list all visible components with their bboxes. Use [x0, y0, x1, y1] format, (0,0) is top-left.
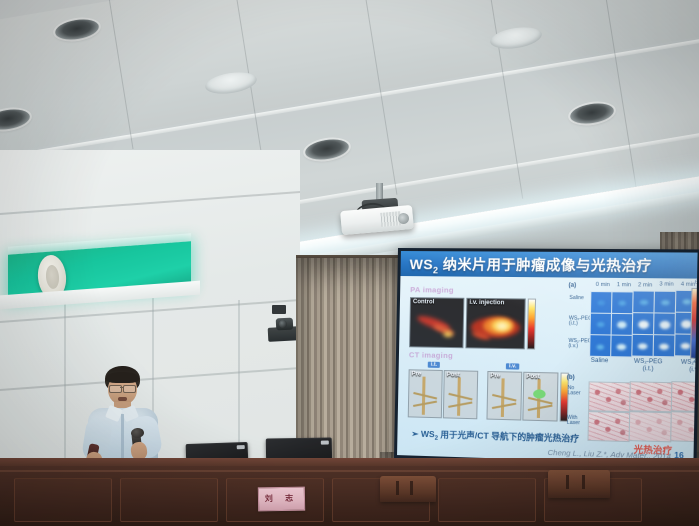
- thermal-cell: [590, 291, 613, 314]
- histology-row-label-no-laser: No Laser: [567, 386, 580, 397]
- histology-cell: [670, 411, 697, 442]
- desk-panel: [120, 478, 218, 522]
- histology-cell: [671, 381, 698, 412]
- ct-image-post-iv: Post: [522, 372, 558, 422]
- wall-junction-box: [272, 305, 286, 314]
- bullet-marker: ➢: [411, 428, 418, 438]
- thermal-colorbar-max: 60°C: [695, 280, 698, 286]
- histology-cell: [588, 381, 631, 412]
- slide-title-rest: 纳米片用于肿瘤成像与光热治疗: [438, 256, 652, 274]
- thermal-col-label: 1 min: [617, 282, 631, 288]
- row-line-2: Laser: [567, 390, 580, 396]
- laptop-logo: [237, 445, 245, 449]
- thermal-row-route: (i.v.): [568, 343, 578, 349]
- group-name: WS₂-PEG: [634, 359, 663, 366]
- thermal-col-label: 0 min: [596, 282, 610, 288]
- presenter-fringe: [106, 372, 139, 383]
- projection-screen: WS2 纳米片用于肿瘤成像与光热治疗 PA imaging Control i.…: [394, 248, 699, 468]
- group-route: (i.v.): [689, 367, 697, 373]
- thermal-cell: [653, 291, 676, 314]
- name-plate: 刘 志: [258, 487, 305, 512]
- slide-title-main: WS: [410, 256, 434, 272]
- thermal-cell: [610, 334, 633, 357]
- thermal-cell: [631, 334, 654, 357]
- ct-group-tag-iv: i.v.: [506, 363, 520, 369]
- thermal-colorbar: [690, 288, 698, 359]
- name-plate-text: 刘 志: [259, 493, 304, 505]
- ct-image-caption: Post: [447, 372, 460, 378]
- row-line-2: Laser: [567, 420, 580, 427]
- thermal-cell: [611, 291, 634, 314]
- thermal-group-label: WS₂-PEG (i.v.): [674, 359, 698, 374]
- lecture-hall-photo: WS2 纳米片用于肿瘤成像与光热治疗 PA imaging Control i.…: [0, 0, 699, 526]
- thermal-group-label: Saline: [581, 358, 619, 366]
- panel-tag-b: (b): [567, 375, 575, 381]
- bullet-text-before: WS: [421, 429, 435, 439]
- pa-colorbar: [527, 299, 536, 350]
- wooden-chair[interactable]: [548, 470, 610, 498]
- thermal-col-label: 3 min: [659, 281, 674, 287]
- pa-image-injection: i.v. injection: [465, 298, 525, 350]
- thermal-row-route: (i.t.): [569, 321, 578, 327]
- slide-title: WS2 纳米片用于肿瘤成像与光热治疗: [409, 254, 652, 277]
- thermal-col-label: 2 min: [638, 282, 652, 288]
- presenter-mouth: [118, 397, 127, 401]
- ct-image-caption: Pre: [490, 373, 500, 379]
- histology-row-label-with-laser: With Laser: [567, 416, 580, 427]
- ct-image-post-it: Post: [443, 370, 478, 419]
- group-route: (i.t.): [643, 366, 654, 372]
- thermal-row-label-saline: Saline: [569, 296, 584, 302]
- presentation-slide: WS2 纳米片用于肿瘤成像与光热治疗 PA imaging Control i.…: [397, 251, 698, 465]
- laptop-logo: [321, 440, 329, 444]
- group-name: WS₂-PEG: [681, 360, 698, 367]
- ct-image-pre-iv: Pre: [486, 371, 522, 421]
- histology-cell: [629, 381, 672, 412]
- section-label-pa-imaging: PA imaging: [410, 285, 454, 295]
- pa-image-caption: i.v. injection: [469, 300, 504, 307]
- ct-image-caption: Pre: [411, 371, 421, 377]
- pa-image-control: Control: [409, 297, 464, 348]
- thermal-cell: [653, 334, 676, 357]
- thermal-cell: [653, 312, 676, 335]
- thermal-cell: [632, 290, 655, 313]
- histology-cell: [629, 411, 672, 442]
- wooden-chair[interactable]: [380, 476, 436, 502]
- thermal-cell: [632, 312, 655, 335]
- panel-tag-a: (a): [568, 283, 576, 289]
- pa-image-caption: Control: [413, 299, 435, 305]
- thermal-cell: [589, 334, 612, 357]
- eyeglasses-right-lens: [123, 385, 136, 393]
- ct-image-pre-it: Pre: [408, 369, 443, 418]
- desk-panel: [438, 478, 536, 522]
- desk-panel: [14, 478, 112, 522]
- bullet-text-after: 用于光声/CT 导航下的肿瘤光热治疗: [438, 429, 579, 443]
- ct-group-tag-it: i.t.: [428, 362, 441, 368]
- ct-image-caption: Post: [526, 374, 540, 380]
- histology-cell: [587, 411, 630, 442]
- thermal-cell: [611, 313, 634, 336]
- eyeglasses-bridge: [120, 387, 124, 388]
- slide-bullet: ➢ WS2 用于光声/CT 导航下的肿瘤光热治疗: [411, 427, 579, 446]
- thermal-group-label: WS₂-PEG (i.t.): [627, 358, 670, 373]
- group-name: Saline: [591, 358, 609, 365]
- thermal-cell: [590, 313, 613, 336]
- section-label-ct-imaging: CT imaging: [409, 350, 453, 360]
- wall-panel-seam: [0, 191, 300, 215]
